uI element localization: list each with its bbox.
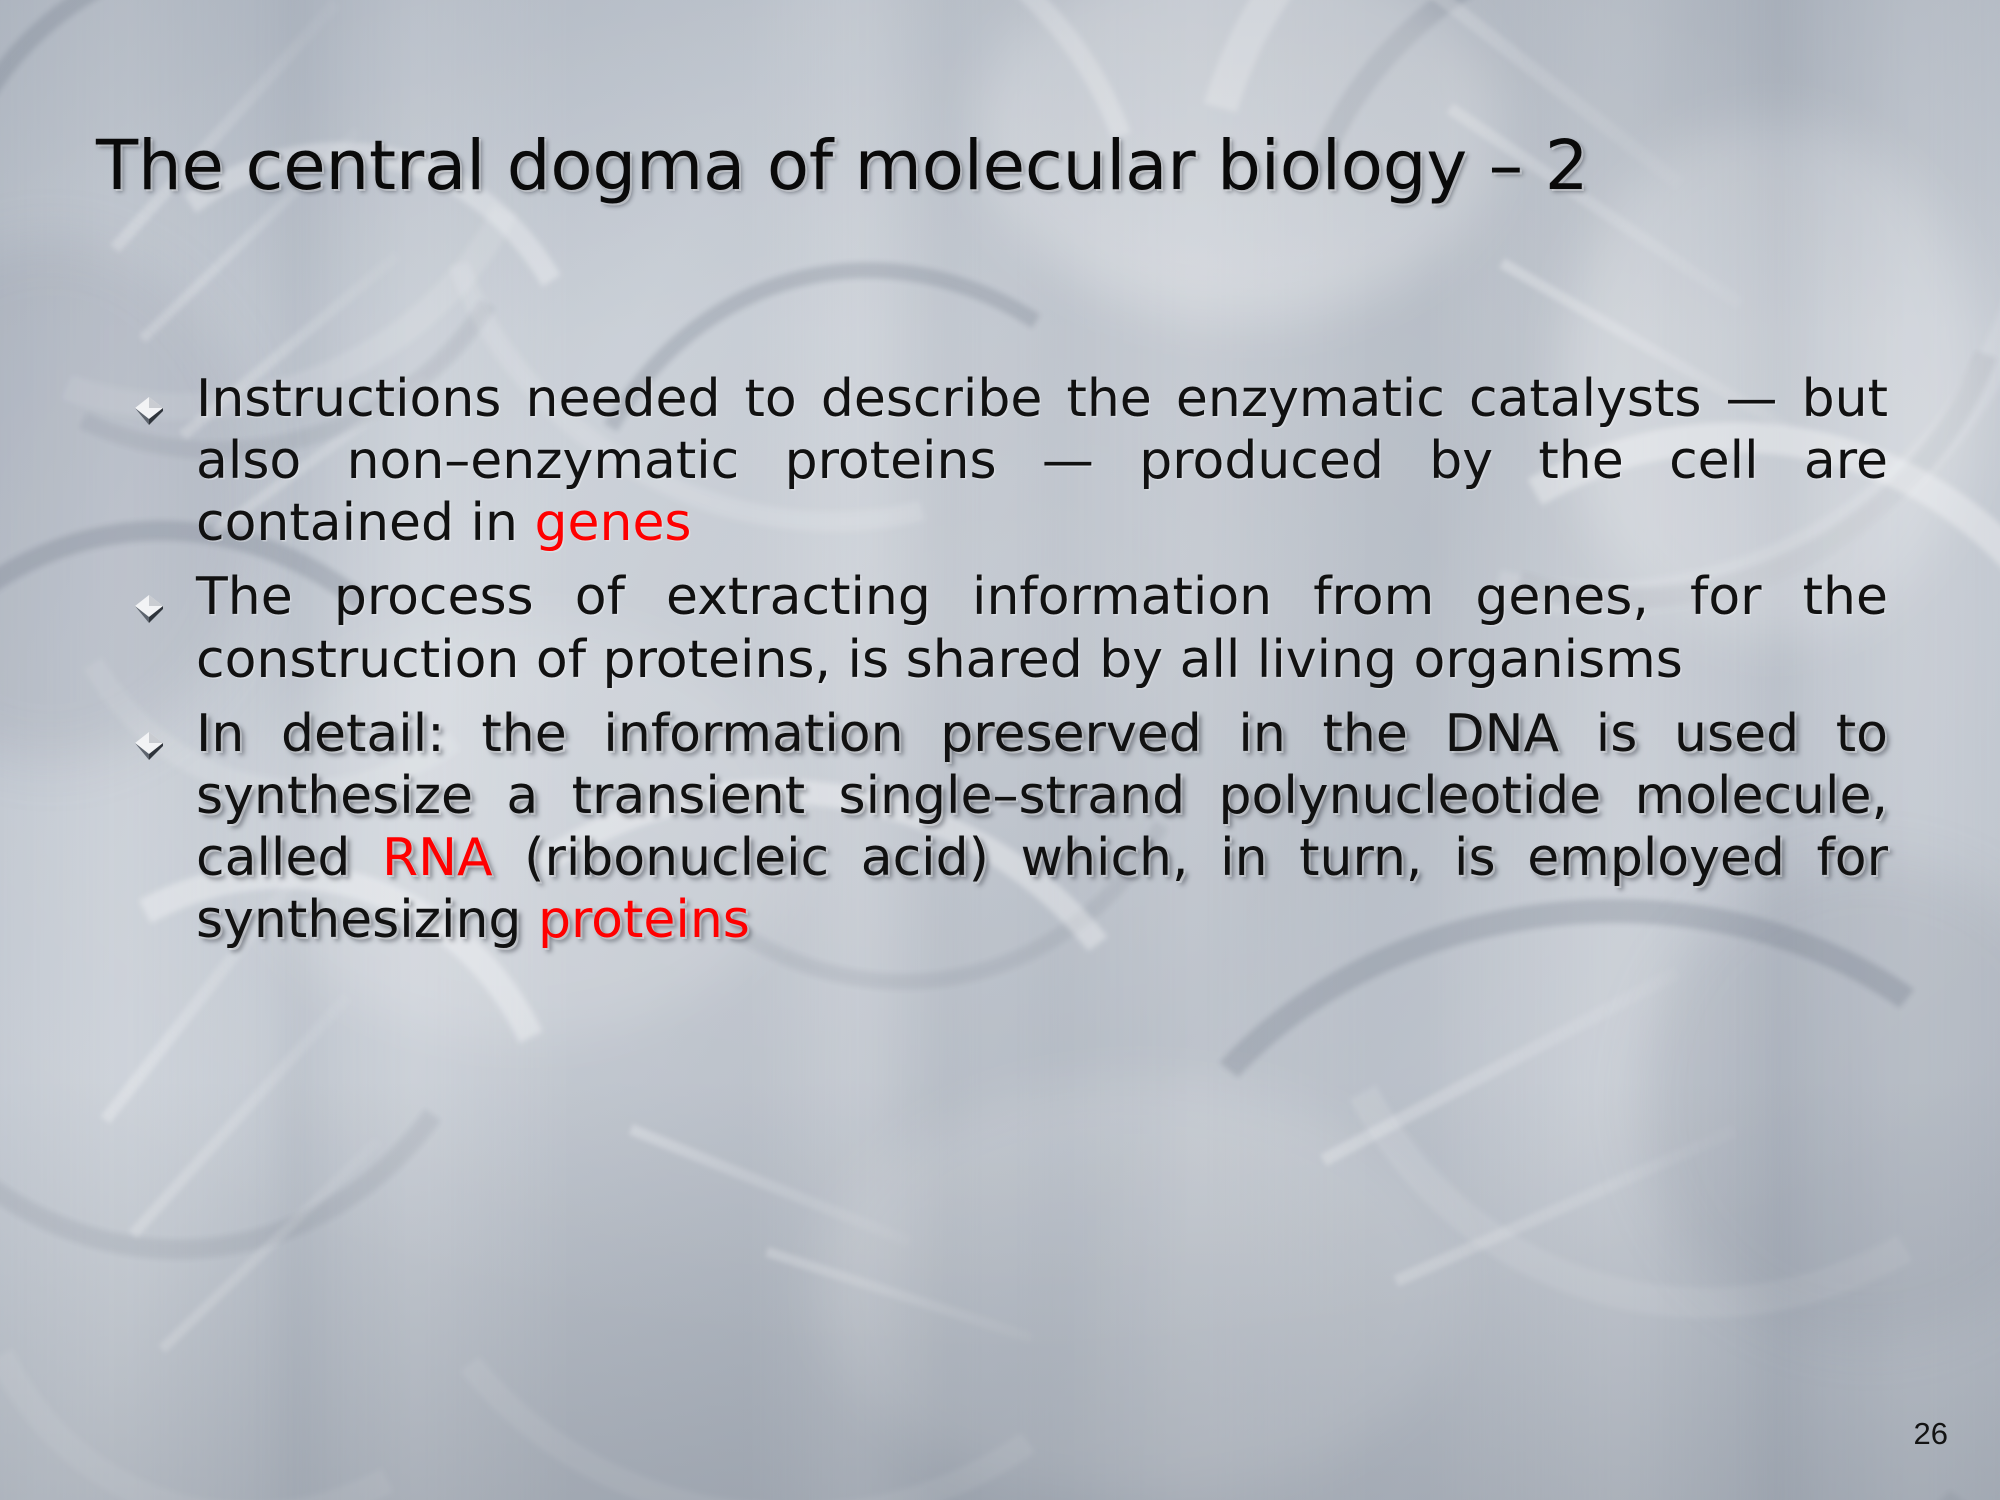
slide-title: The central dogma of molecular biology –… <box>96 132 1916 201</box>
bullet-item-3: In detail: the information preserved in … <box>128 703 1888 952</box>
bullet-2-seg-0: The process of extracting information fr… <box>196 567 1888 689</box>
presentation-slide: The central dogma of molecular biology –… <box>0 0 2000 1500</box>
diamond-arrow-bullet-icon <box>132 394 166 428</box>
slide-body: Instructions needed to describe the enzy… <box>128 368 1888 963</box>
diamond-arrow-bullet-icon <box>132 592 166 626</box>
diamond-arrow-bullet-icon <box>132 729 166 763</box>
bullet-1-seg-0: Instructions needed to describe the enzy… <box>196 369 1888 553</box>
bullet-3-highlight-rna: RNA <box>382 828 493 888</box>
slide-page-number: 26 <box>1914 1416 1948 1452</box>
bullet-text-2: The process of extracting information fr… <box>196 566 1888 690</box>
bullet-item-2: The process of extracting information fr… <box>128 566 1888 690</box>
bullet-text-3: In detail: the information preserved in … <box>196 703 1888 952</box>
bullet-item-1: Instructions needed to describe the enzy… <box>128 368 1888 554</box>
bullet-3-highlight-proteins: proteins <box>538 890 750 950</box>
bullet-text-1: Instructions needed to describe the enzy… <box>196 368 1888 554</box>
bullet-1-highlight-genes: genes <box>534 493 691 553</box>
